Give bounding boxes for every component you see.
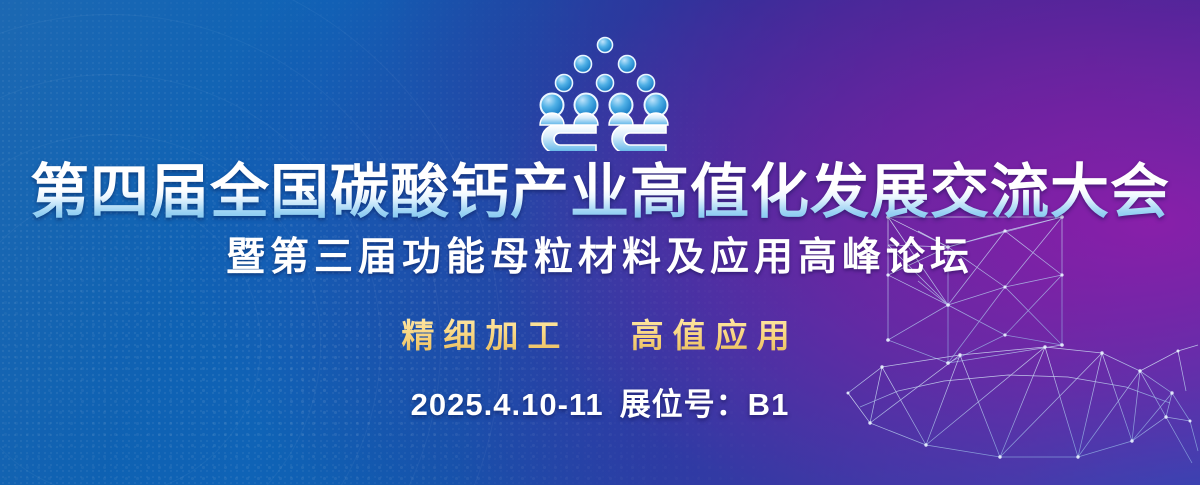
slogan-gap (569, 317, 630, 354)
cc-logo-icon (520, 33, 690, 151)
conference-banner: 第四届全国碳酸钙产业高值化发展交流大会 暨第三届功能母粒材料及应用高峰论坛 精细… (0, 0, 1200, 485)
logo-letter-c-left (542, 125, 596, 151)
slogan: 精细加工 高值应用 (0, 316, 1200, 356)
dateline: 2025.4.10-11展位号：B1 (0, 386, 1200, 424)
slogan-right: 高值应用 (631, 317, 799, 354)
event-date: 2025.4.10-11 (411, 387, 604, 422)
slogan-left: 精细加工 (401, 317, 569, 354)
booth-number: 展位号：B1 (604, 387, 790, 422)
logo-letter-c-right (612, 125, 666, 151)
page-title: 第四届全国碳酸钙产业高值化发展交流大会 (0, 160, 1200, 224)
logo-bubbles (556, 38, 655, 92)
page-subtitle: 暨第三届功能母粒材料及应用高峰论坛 (0, 236, 1200, 280)
logo-figure-heads (541, 94, 668, 117)
logo-figure-shoulders (540, 113, 668, 125)
